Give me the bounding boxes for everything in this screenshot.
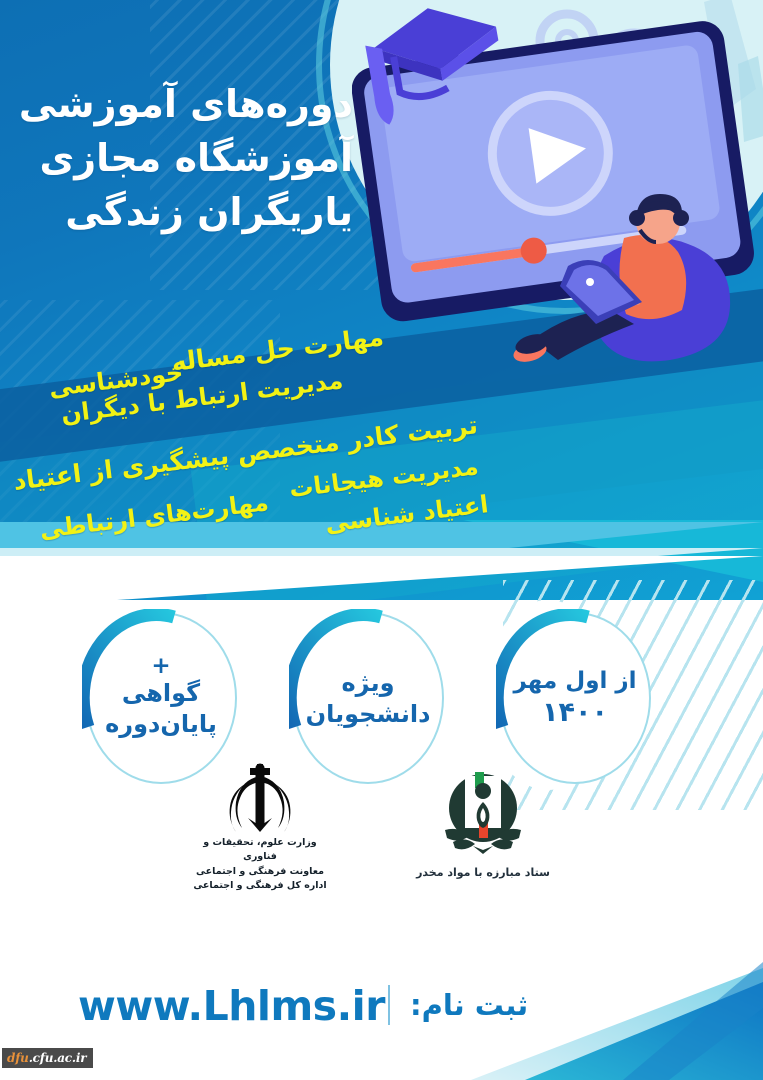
poster-root: دوره‌های آموزشی آموزشگاه مجازی یاریگران … bbox=[0, 0, 763, 1080]
badge-line-2: پایان‌دوره bbox=[105, 709, 217, 740]
ministry-caption-line-1: وزارت علوم، تحقیقات و فناوری bbox=[186, 836, 334, 865]
title-line-2: آموزشگاه مجازی bbox=[23, 132, 353, 186]
badge-plus: + bbox=[151, 656, 170, 677]
badge-line-2: دانشجویان bbox=[306, 699, 431, 730]
badge-line-1: گواهی bbox=[122, 678, 200, 709]
badge-start-date: از اول مهر ۱۴۰۰ bbox=[499, 612, 651, 784]
ministry-caption-line-2: معاونت فرهنگی و اجتماعی bbox=[186, 865, 334, 879]
footer bbox=[0, 960, 763, 1080]
badge-certificate: + گواهی پایان‌دوره bbox=[85, 612, 237, 784]
badge-text: + گواهی پایان‌دوره bbox=[85, 612, 237, 784]
bottom-right-decoration bbox=[433, 960, 763, 1080]
antinarcotics-caption: ستاد مبارزه با مواد مخدر bbox=[398, 866, 568, 879]
ministry-caption-line-3: اداره کل فرهنگی و اجتماعی bbox=[186, 879, 334, 893]
watermark-suffix: .cfu.ac.ir bbox=[29, 1051, 87, 1065]
course-item: اعتیاد شناسی bbox=[323, 490, 489, 538]
title-line-1: دوره‌های آموزشی bbox=[23, 78, 353, 132]
course-item: مهارت حل مساله bbox=[169, 322, 384, 377]
watermark-prefix: dfu bbox=[7, 1051, 29, 1065]
badge-line-2: ۱۴۰۰ bbox=[542, 696, 608, 731]
badge-line-1: از اول مهر bbox=[514, 667, 637, 696]
badge-line-1: ویژه bbox=[341, 668, 394, 699]
iran-emblem-icon bbox=[214, 762, 306, 836]
anti-narcotics-icon bbox=[435, 764, 531, 860]
course-item: مهارت‌های ارتباطی bbox=[38, 488, 270, 544]
badge-students: ویژه دانشجویان bbox=[292, 612, 444, 784]
antinarcotics-logo-block: ستاد مبارزه با مواد مخدر bbox=[398, 764, 568, 879]
ministry-caption: وزارت علوم، تحقیقات و فناوری معاونت فرهن… bbox=[186, 836, 334, 893]
source-watermark: dfu.cfu.ac.ir bbox=[2, 1048, 93, 1068]
ministry-logo-block: وزارت علوم، تحقیقات و فناوری معاونت فرهن… bbox=[186, 762, 334, 893]
course-list: مهارت حل مساله خودشناسی مدیریت ارتباط با… bbox=[0, 300, 763, 560]
corner-wedge bbox=[433, 960, 763, 1080]
logo-group: وزارت علوم، تحقیقات و فناوری معاونت فرهن… bbox=[0, 762, 763, 937]
poster-title: دوره‌های آموزشی آموزشگاه مجازی یاریگران … bbox=[23, 78, 353, 240]
badge-text: از اول مهر ۱۴۰۰ bbox=[499, 612, 651, 784]
title-line-3: یاریگران زندگی bbox=[23, 186, 353, 240]
badge-text: ویژه دانشجویان bbox=[292, 612, 444, 784]
